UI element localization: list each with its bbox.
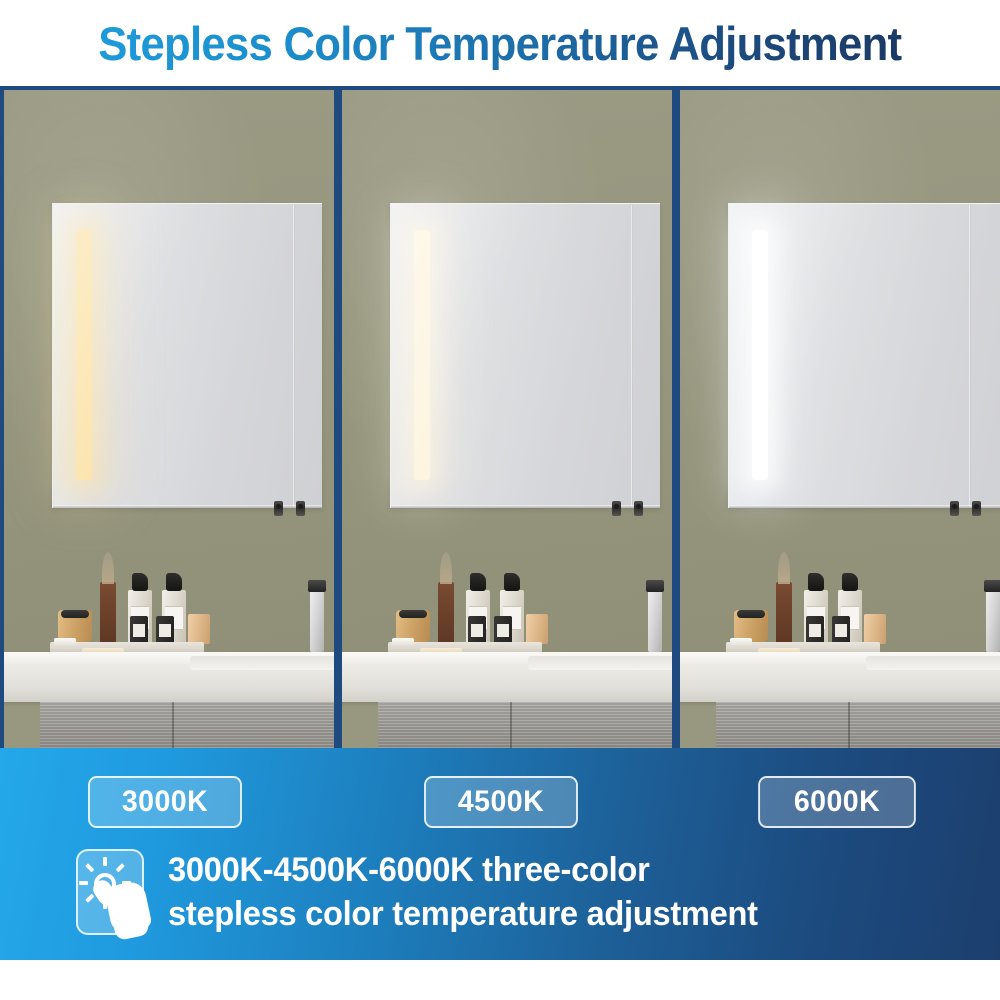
cabinet-hinge (612, 501, 621, 516)
page-title: Stepless Color Temperature Adjustment (98, 16, 901, 71)
title-bar: Stepless Color Temperature Adjustment (0, 0, 1000, 86)
feature-banner: 3000K 4500K 6000K 3000K-4500K-6000K thre… (0, 748, 1000, 960)
small-jar (494, 616, 512, 644)
vanity-cabinet (378, 702, 676, 748)
small-jar (832, 616, 850, 644)
brightness-touch-icon (76, 849, 144, 935)
photo-panel-3000k (0, 86, 338, 748)
mirror-reflection-sheen (391, 204, 660, 508)
mirror-reflection-sheen (53, 204, 322, 508)
sink-basin (190, 656, 338, 670)
mirror-reflection-sheen (729, 204, 1000, 508)
cabinet-door-seam (631, 205, 633, 507)
small-jar (806, 616, 824, 644)
small-jar (156, 616, 174, 644)
sun-ray-icon (79, 881, 88, 885)
sun-ray-icon (85, 863, 94, 872)
cabinet-hinge (296, 501, 305, 516)
small-jar (130, 616, 148, 644)
vanity-drawer-seam (510, 702, 512, 748)
cabinet-hinge (950, 501, 959, 516)
sun-ray-icon (103, 857, 107, 866)
candle (864, 614, 886, 644)
sun-ray-icon (85, 894, 94, 903)
product-feature-image: Stepless Color Temperature Adjustment (0, 0, 1000, 1000)
candle (188, 614, 210, 644)
vanity-drawer-seam (172, 702, 174, 748)
mirror-cabinet (52, 203, 322, 508)
pointing-hand-icon (103, 880, 152, 935)
badge-3000k[interactable]: 3000K (88, 776, 242, 828)
faucet (986, 590, 1000, 652)
faucet (310, 590, 324, 652)
sun-ray-icon (116, 863, 125, 872)
color-temperature-badges: 3000K 4500K 6000K (0, 776, 1000, 828)
led-strip-3000k (76, 230, 92, 480)
reed-diffuser (776, 582, 792, 644)
faucet (648, 590, 662, 652)
feature-caption: 3000K-4500K-6000K three-color stepless c… (168, 848, 758, 936)
mirror-cabinet (728, 203, 1000, 508)
cabinet-hinge (972, 501, 981, 516)
feature-caption-row: 3000K-4500K-6000K three-color stepless c… (0, 848, 1000, 936)
feature-caption-line-2: stepless color temperature adjustment (168, 892, 758, 936)
badge-4500k[interactable]: 4500K (424, 776, 578, 828)
cabinet-hinge (274, 501, 283, 516)
candle (526, 614, 548, 644)
reed-diffuser (100, 582, 116, 644)
cabinet-door-seam (969, 205, 971, 507)
badge-6000k[interactable]: 6000K (758, 776, 916, 828)
vanity-drawer-seam (848, 702, 850, 748)
led-strip-6000k (752, 230, 768, 480)
cabinet-hinge (634, 501, 643, 516)
vanity-cabinet (40, 702, 338, 748)
cabinet-bottom-edge (729, 505, 1000, 508)
photo-panel-4500k (338, 86, 676, 748)
photo-comparison-strip (0, 86, 1000, 748)
feature-caption-line-1: 3000K-4500K-6000K three-color (168, 848, 758, 892)
sink-basin (528, 656, 676, 670)
small-jar (468, 616, 486, 644)
soap-dish (392, 638, 414, 645)
reed-diffuser (438, 582, 454, 644)
led-strip-4500k (414, 230, 430, 480)
bottom-white-margin (0, 960, 1000, 1000)
countertop (338, 652, 676, 702)
mirror-cabinet (390, 203, 660, 508)
soap-dish (730, 638, 752, 645)
photo-panel-6000k (676, 86, 1000, 748)
countertop (0, 652, 338, 702)
sink-basin (866, 656, 1000, 670)
soap-dish (54, 638, 76, 645)
countertop (676, 652, 1000, 702)
cabinet-door-seam (293, 205, 295, 507)
vanity-cabinet (716, 702, 1000, 748)
